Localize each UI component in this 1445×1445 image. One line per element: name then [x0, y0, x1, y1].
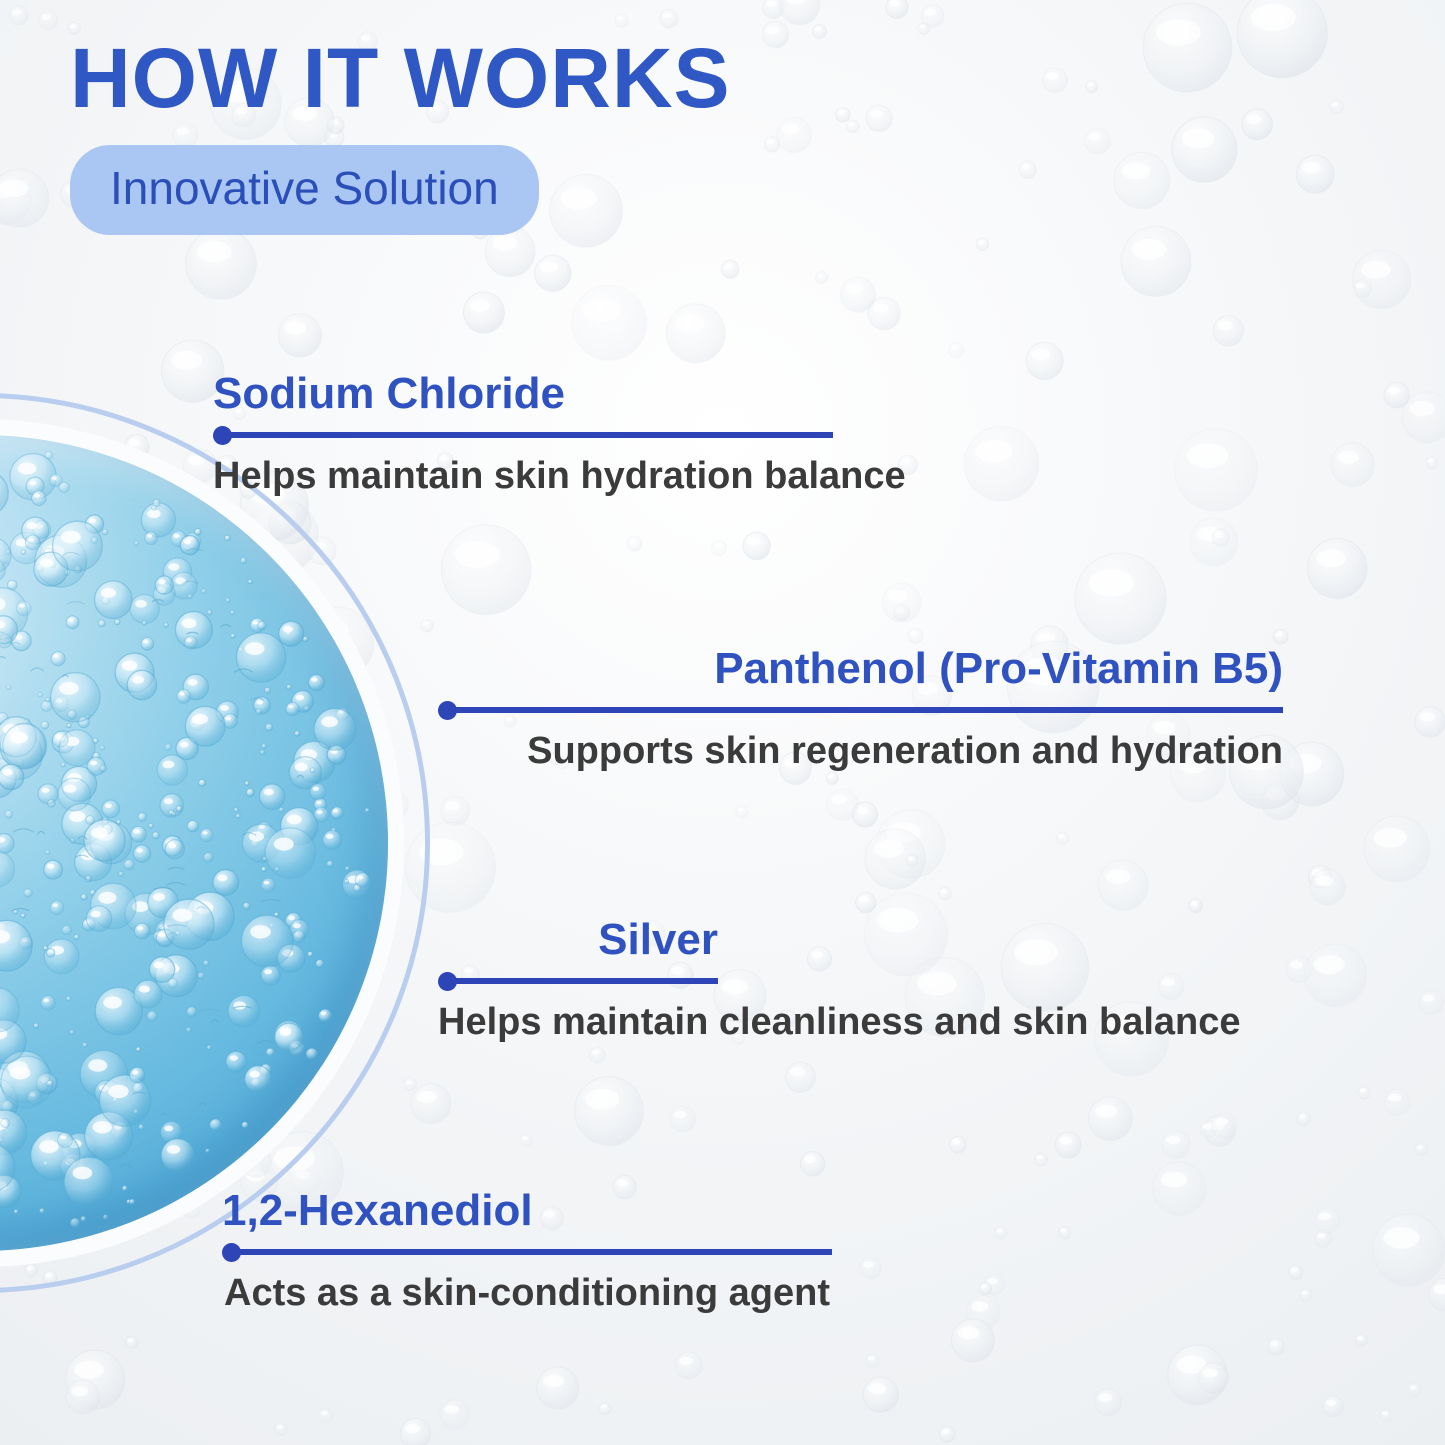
serum-gel-circle [0, 393, 430, 1293]
page-title: HOW IT WORKS [70, 36, 731, 120]
connector-line [231, 1249, 832, 1255]
callout-description: Helps maintain cleanliness and skin bala… [438, 1002, 1241, 1044]
gel-fluid [0, 435, 388, 1251]
callout-connector [438, 701, 1283, 719]
callout-hexanediol: 1,2-Hexanediol Acts as a skin-conditioni… [222, 1243, 832, 1261]
subtitle-badge: Innovative Solution [70, 145, 539, 235]
callout-description: Helps maintain skin hydration balance [213, 456, 906, 498]
callout-title: 1,2-Hexanediol [222, 1189, 533, 1243]
callout-title: Panthenol (Pro-Vitamin B5) [714, 647, 1283, 701]
callout-silver: Silver Helps maintain cleanliness and sk… [438, 972, 718, 990]
callout-connector [222, 1243, 832, 1261]
gel-bubbles [0, 435, 388, 1251]
header: HOW IT WORKS Innovative Solution [70, 36, 731, 235]
callout-title: Sodium Chloride [213, 372, 565, 426]
callout-panthenol: Panthenol (Pro-Vitamin B5) Supports skin… [438, 701, 1283, 719]
connector-line [447, 707, 1283, 713]
callout-description: Supports skin regeneration and hydration [527, 731, 1283, 773]
callout-connector [213, 426, 833, 444]
callout-description: Acts as a skin-conditioning agent [224, 1273, 830, 1315]
callout-sodium-chloride: Sodium Chloride Helps maintain skin hydr… [213, 426, 833, 444]
connector-line [222, 432, 833, 438]
callout-title: Silver [598, 918, 718, 972]
callout-connector [438, 972, 718, 990]
connector-line [447, 978, 718, 984]
